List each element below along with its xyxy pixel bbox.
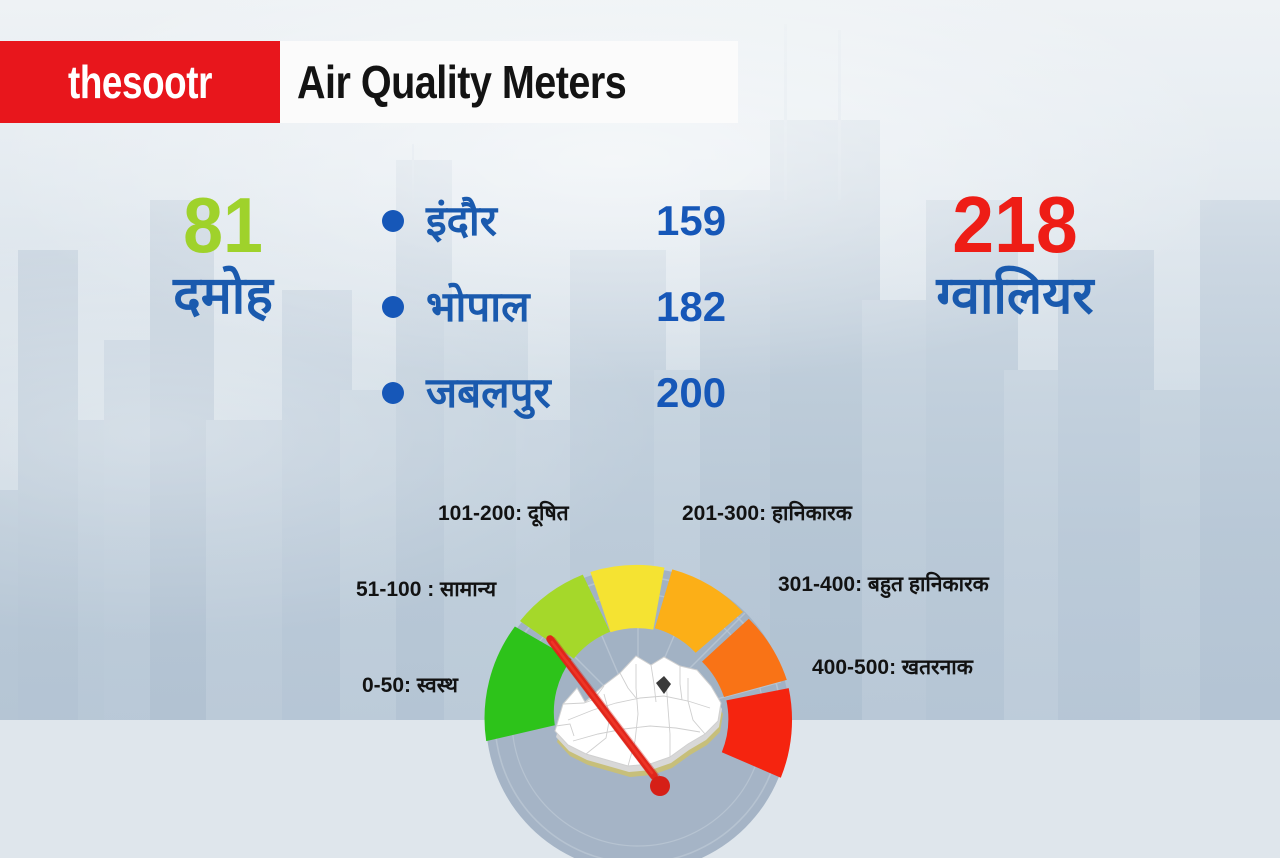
city-aqi-value: 200 [656, 372, 726, 414]
left-city-reading: 81 दमोह [98, 190, 348, 322]
legend-label-51-100: 51-100 : सामान्य [356, 578, 496, 601]
legend-label-0-50: 0-50: स्वस्थ [362, 674, 458, 697]
legend-label-101-200: 101-200: दूषित [438, 502, 569, 525]
bullet-icon [382, 210, 404, 232]
right-aqi-value: 218 [869, 188, 1160, 262]
bullet-icon [382, 296, 404, 318]
list-item: जबलपुर 200 [382, 350, 782, 436]
legend-label-201-300: 201-300: हानिकारक [682, 502, 852, 525]
brand-plate: thesootr [0, 41, 280, 123]
list-item: भोपाल 182 [382, 264, 782, 350]
left-city-name: दमोह [98, 270, 348, 322]
left-aqi-value: 81 [108, 190, 338, 262]
right-city-name: ग्वालियर [860, 270, 1170, 322]
page-title: Air Quality Meters [297, 55, 626, 109]
city-aqi-list: इंदौर 159 भोपाल 182 जबलपुर 200 [382, 178, 782, 436]
needle-hub [650, 776, 670, 796]
header-bar: thesootr Air Quality Meters [0, 41, 738, 123]
title-plate: Air Quality Meters [280, 41, 738, 123]
city-aqi-value: 159 [656, 200, 726, 242]
list-item: इंदौर 159 [382, 178, 782, 264]
right-city-reading: 218 ग्वालियर [860, 188, 1170, 322]
brand-logo-text: thesootr [68, 55, 212, 109]
bullet-icon [382, 382, 404, 404]
legend-label-301-400: 301-400: बहुत हानिकारक [778, 573, 989, 596]
legend-label-400-500: 400-500: खतरनाक [812, 656, 973, 679]
city-name: इंदौर [426, 200, 656, 242]
city-name: भोपाल [426, 286, 656, 328]
city-aqi-value: 182 [656, 286, 726, 328]
city-name: जबलपुर [426, 372, 656, 414]
